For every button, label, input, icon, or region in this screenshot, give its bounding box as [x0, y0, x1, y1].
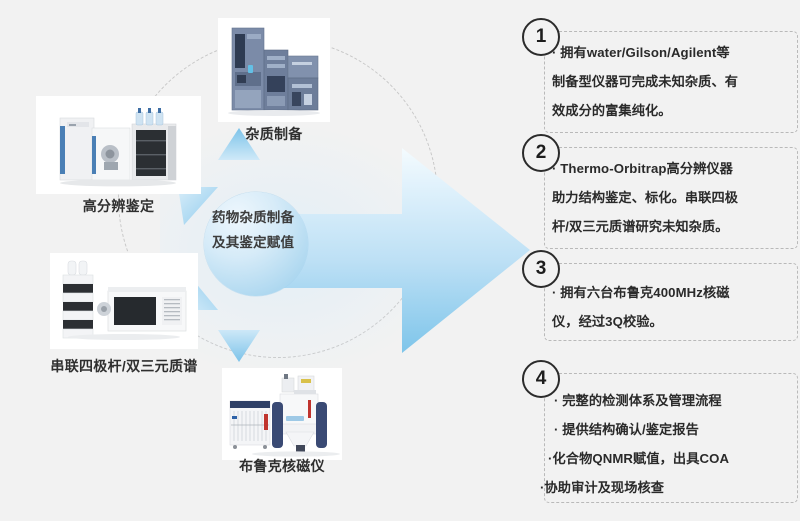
number-badge-3: 3 — [522, 250, 560, 288]
card-label-tandem-quadrupole-triple-ms: 串联四极杆/双三元质谱 — [14, 356, 234, 376]
photo-preparative-chromatography-system — [218, 18, 330, 122]
card-impurity-preparation — [218, 18, 330, 122]
item-text-2: · Thermo-Orbitrap高分辨仪器 助力结构鉴定、标化。串联四极 杆/… — [552, 154, 738, 241]
photo-high-resolution-mass-spectrometer — [36, 96, 201, 194]
card-label-bruker-nmr: 布鲁克核磁仪 — [212, 456, 352, 476]
item-text-3: · 拥有六台布鲁克400MHz核磁 仪，经过3Q校验。 — [552, 278, 730, 336]
item-text-4: · 完整的检测体系及管理流程 · 提供结构确认/鉴定报告 ·化合物QNMR赋值，… — [554, 386, 729, 502]
card-tandem-quadrupole-triple-ms — [50, 253, 198, 349]
photo-tandem-quadrupole-lcms — [50, 253, 198, 349]
card-high-resolution-identification — [36, 96, 201, 194]
card-bruker-nmr — [222, 368, 342, 460]
number-badge-4: 4 — [522, 360, 560, 398]
card-label-high-resolution-identification: 高分辨鉴定 — [36, 196, 201, 216]
photo-bruker-nmr-magnet — [222, 368, 342, 460]
item-text-1: · 拥有water/Gilson/Agilent等 制备型仪器可完成未知杂质、有… — [552, 38, 738, 125]
number-badge-2: 2 — [522, 134, 560, 172]
center-bubble-line-1: 药物杂质制备 — [212, 205, 332, 230]
number-badge-1: 1 — [522, 18, 560, 56]
infographic-canvas: 高分辨鉴定 杂质制备 — [0, 0, 800, 521]
card-label-impurity-preparation: 杂质制备 — [218, 124, 330, 144]
center-bubble-line-2: 及其鉴定赋值 — [212, 230, 332, 255]
center-bubble-text: 药物杂质制备 及其鉴定赋值 — [212, 205, 332, 255]
